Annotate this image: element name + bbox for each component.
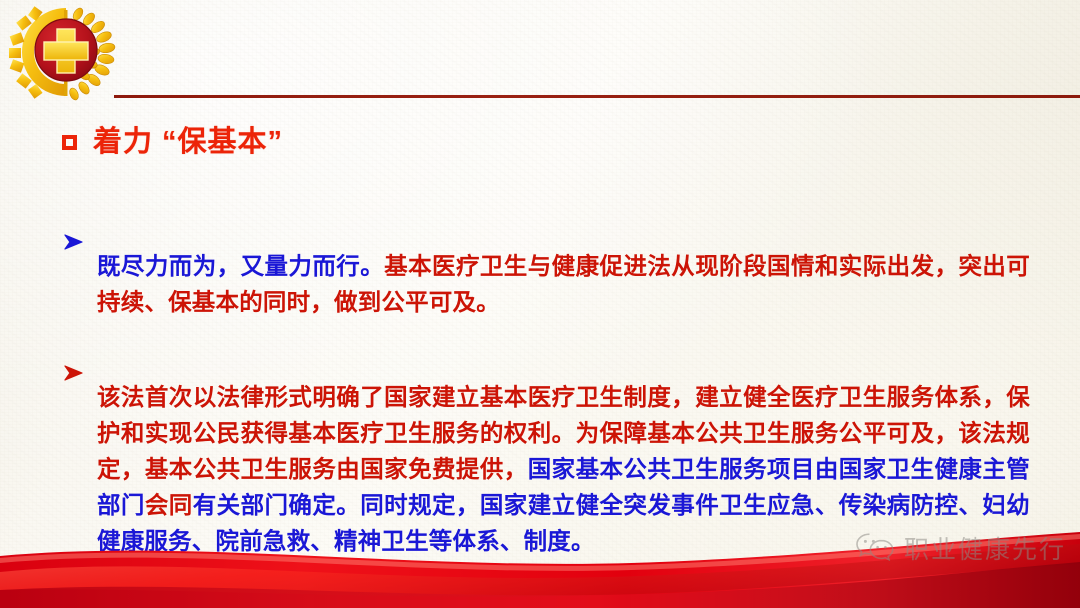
page-title: 着力 “保基本” (62, 128, 283, 157)
page-title-text: 着力 “保基本” (93, 128, 283, 157)
emblem-svg (4, 2, 128, 102)
watermark: 职业健康先行 (854, 530, 1066, 566)
slide-canvas: 着力 “保基本” 既尽力而为，又量力而行。基本医疗卫生与健康促进法从现阶段国情和… (0, 0, 1080, 608)
text-run-red-emphasis: 会同 (145, 492, 193, 518)
wechat-icon (854, 531, 896, 566)
arrow-right-bullet-icon (62, 364, 86, 387)
arrow-right-bullet-icon (62, 233, 86, 256)
square-outline-bullet-icon (62, 135, 77, 150)
header-divider (114, 95, 1080, 98)
list-item: 既尽力而为，又量力而行。基本医疗卫生与健康促进法从现阶段国情和实际出发，突出可持… (62, 224, 1030, 343)
watermark-text: 职业健康先行 (904, 530, 1066, 566)
gear-wheat-cross-emblem (4, 2, 128, 102)
list-item-paragraph: 既尽力而为，又量力而行。基本医疗卫生与健康促进法从现阶段国情和实际出发，突出可持… (97, 248, 1030, 320)
text-run-blue: 既尽力而为，又量力而行。 (97, 253, 384, 279)
